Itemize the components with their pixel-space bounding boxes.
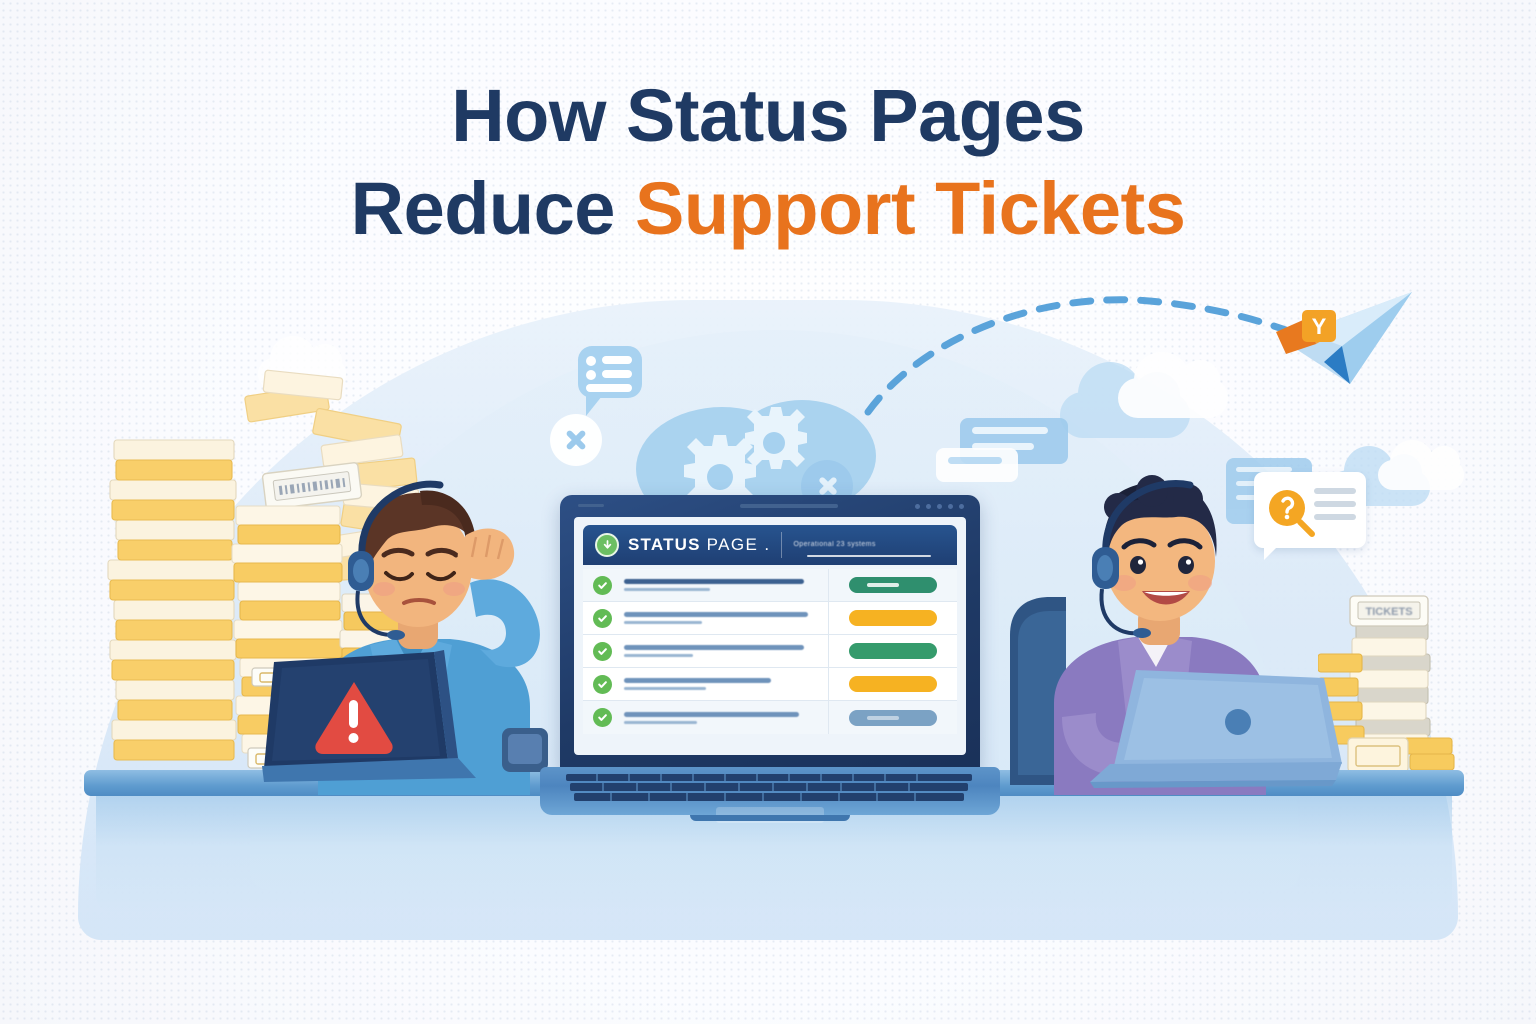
download-circle-icon: [595, 533, 619, 557]
paper-plane-icon: Y: [1272, 288, 1422, 398]
dashed-arc-path: [860, 280, 1320, 420]
title-line-1: How Status Pages: [0, 78, 1536, 155]
status-page-screen: STATUS PAGE . Operational 23 systems: [574, 517, 966, 755]
check-circle-icon: [593, 708, 612, 727]
status-row[interactable]: [583, 701, 957, 734]
status-page-title: STATUS PAGE .: [628, 535, 770, 555]
row-status-cell: [829, 710, 957, 726]
status-page-meta: Operational 23 systems: [793, 533, 945, 557]
row-status-cell: [829, 643, 957, 659]
ticket-stack-label: TICKETS: [1365, 606, 1412, 618]
status-badge: [849, 710, 937, 726]
check-circle-icon: [593, 609, 612, 628]
row-text-bars: [624, 712, 828, 724]
status-row[interactable]: [583, 668, 957, 701]
status-badge: [849, 577, 937, 593]
row-text-bars: [624, 579, 828, 591]
row-status-cell: [829, 577, 957, 593]
check-circle-icon: [593, 576, 612, 595]
cloud-icon: [1378, 460, 1464, 490]
row-status-cell: [829, 610, 957, 626]
right-laptop: [1074, 660, 1344, 790]
status-page-header: STATUS PAGE . Operational 23 systems: [583, 525, 957, 565]
title-accent: Support Tickets: [635, 167, 1185, 250]
illustration-canvas: How Status Pages Reduce Support Tickets: [0, 0, 1536, 1024]
row-status-cell: [829, 676, 957, 692]
row-text-bars: [624, 645, 828, 657]
row-text-bars: [624, 612, 828, 624]
status-row[interactable]: [583, 569, 957, 602]
status-meta-text: Operational 23 systems: [793, 541, 875, 548]
left-laptop: [262, 640, 562, 790]
title-line-2: Reduce Support Tickets: [0, 171, 1536, 248]
faq-text-lines: [1314, 488, 1356, 527]
check-circle-icon: [593, 675, 612, 694]
chat-bubble-icon: [936, 448, 1018, 482]
status-badge: [849, 643, 937, 659]
laptop-lid: STATUS PAGE . Operational 23 systems: [560, 495, 980, 773]
status-badge: [849, 610, 937, 626]
check-circle-icon: [593, 642, 612, 661]
chat-bubble-icon: [578, 346, 642, 398]
bezel-camera-bar: [740, 504, 838, 508]
status-row[interactable]: [583, 635, 957, 668]
status-title-light: PAGE .: [707, 535, 771, 554]
header-divider: [781, 532, 782, 558]
row-text-bars: [624, 678, 828, 690]
status-badge: [849, 676, 937, 692]
bezel-dots: [915, 504, 964, 509]
status-row[interactable]: [583, 602, 957, 635]
status-title-bold: STATUS: [628, 535, 701, 554]
bezel-indicator: [578, 504, 604, 507]
title-prefix: Reduce: [351, 167, 635, 250]
laptop-keyboard: [566, 773, 974, 803]
plane-badge-letter: Y: [1312, 314, 1327, 339]
status-page-rows: [583, 569, 957, 749]
page-title: How Status Pages Reduce Support Tickets: [0, 78, 1536, 248]
laptop-front-edge: [690, 815, 850, 821]
